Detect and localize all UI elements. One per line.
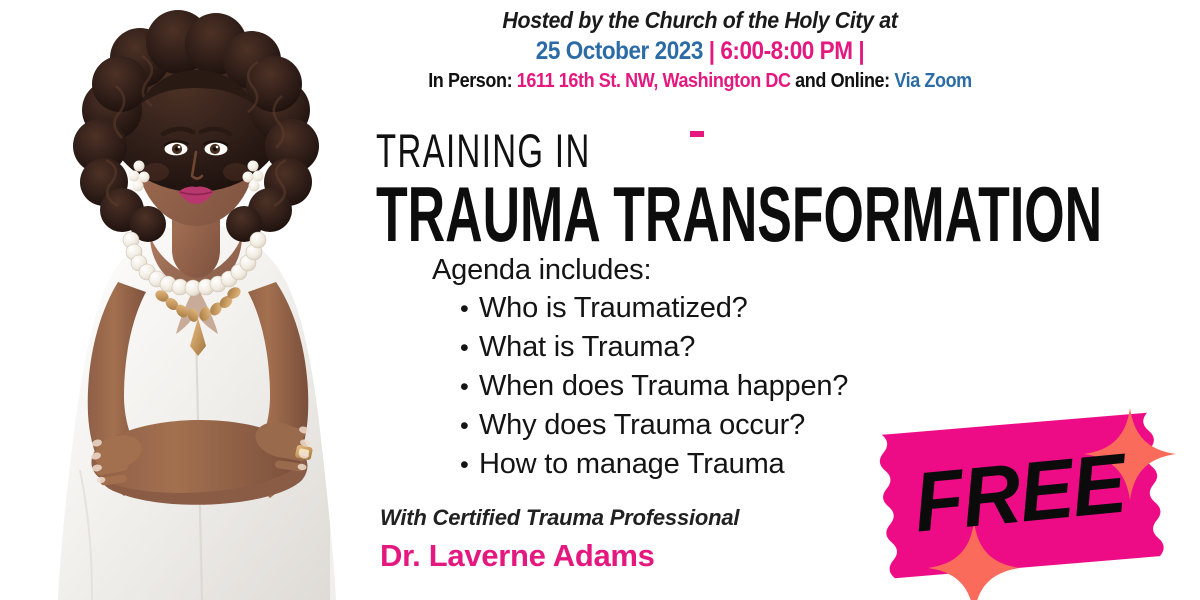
title-line-2: TRAUMA TRANSFORMATION — [376, 177, 828, 251]
agenda-list: • Who is Traumatized? • What is Trauma? … — [460, 294, 952, 479]
list-item: • Why does Trauma occur? — [460, 411, 952, 440]
date-time-separator: | — [703, 37, 720, 65]
agenda-heading: Agenda includes: — [432, 256, 952, 285]
speaker-role: With Certified Trauma Professional — [380, 505, 840, 531]
sparkle-icon — [928, 522, 1020, 600]
bullet-icon: • — [460, 414, 479, 439]
agenda-section: Agenda includes: • Who is Traumatized? •… — [432, 256, 952, 489]
list-item-label: When does Trauma happen? — [479, 372, 848, 401]
page-title: TRAINING IN TRAUMA TRANSFORMATION — [376, 128, 1056, 251]
sparkle-icon — [1084, 408, 1176, 500]
speaker-name: Dr. Laverne Adams — [380, 538, 840, 574]
list-item-label: What is Trauma? — [479, 333, 695, 362]
list-item-label: Who is Traumatized? — [479, 294, 748, 323]
bullet-icon: • — [460, 336, 479, 361]
hosted-by-line: Hosted by the Church of the Holy City at — [393, 8, 1007, 34]
list-item: • What is Trauma? — [460, 333, 952, 362]
title-line-1: TRAINING IN — [376, 128, 852, 173]
speaker-portrait — [0, 0, 392, 600]
location-line: In Person: 1611 16th St. NW, Washington … — [403, 70, 997, 92]
event-time: 6:00-8:00 PM | — [720, 37, 864, 65]
event-date: 25 October 2023 — [536, 37, 703, 65]
list-item: • When does Trauma happen? — [460, 372, 952, 401]
list-item: • Who is Traumatized? — [460, 294, 952, 323]
bullet-icon: • — [460, 375, 479, 400]
and-online-label: and Online: — [791, 70, 890, 92]
bullet-icon: • — [460, 297, 479, 322]
portrait-illustration — [0, 0, 392, 600]
online-platform[interactable]: Via Zoom — [890, 70, 972, 92]
speaker-credit: With Certified Trauma Professional Dr. L… — [380, 505, 840, 574]
list-item-label: Why does Trauma occur? — [479, 411, 805, 440]
event-header: Hosted by the Church of the Holy City at… — [370, 8, 1030, 92]
in-person-label: In Person: — [428, 70, 512, 92]
bullet-icon: • — [460, 453, 479, 478]
event-flyer: Hosted by the Church of the Holy City at… — [0, 0, 1200, 600]
venue-address: 1611 16th St. NW, Washington DC — [512, 70, 790, 92]
date-time-line: 25 October 2023 | 6:00-8:00 PM | — [403, 37, 997, 65]
list-item-label: How to manage Trauma — [479, 450, 785, 479]
list-item: • How to manage Trauma — [460, 450, 952, 479]
